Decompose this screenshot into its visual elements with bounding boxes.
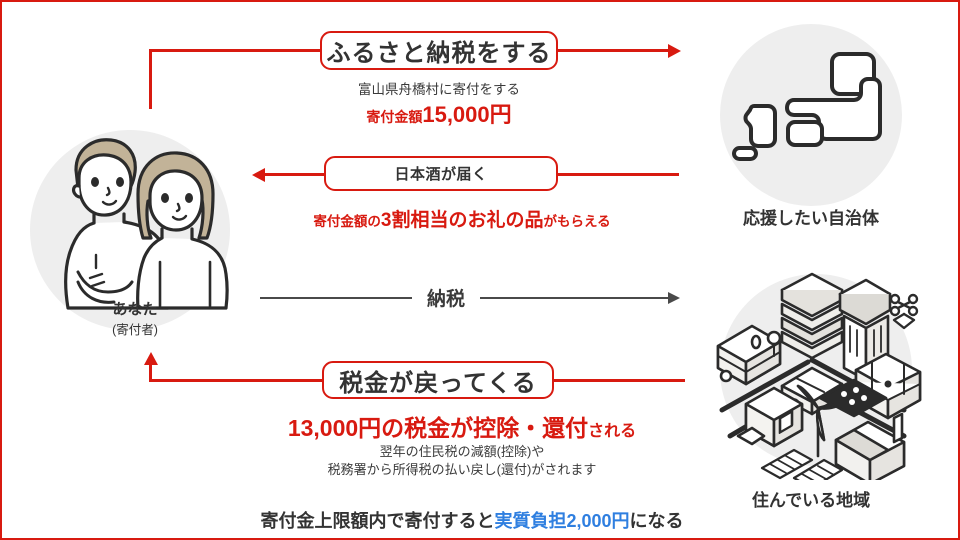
step3-arrow-label: 納税 bbox=[412, 284, 480, 311]
step1-line-vertical bbox=[149, 51, 152, 109]
step4-refund-text: 13,000円の税金が控除・還付される bbox=[262, 409, 662, 443]
step4-note: 翌年の住民税の減額(控除)や 税務署から所得税の払い戻し(還付)がされます bbox=[262, 443, 662, 478]
isometric-city-icon bbox=[708, 260, 924, 480]
step1-line-right bbox=[555, 49, 670, 52]
municipality-label: 応援したい自治体 bbox=[711, 204, 911, 229]
couple-illustration bbox=[32, 122, 242, 322]
step2-line-right bbox=[555, 173, 679, 176]
step4-refund-amount: 13,000円の税金が控除・還付 bbox=[288, 415, 588, 441]
step1-amount-value: 15,000円 bbox=[422, 102, 511, 127]
step4-box-label: 税金が戻ってくる bbox=[339, 363, 537, 398]
japan-map-icon bbox=[730, 40, 900, 190]
step4-note-line1: 翌年の住民税の減額(控除)や bbox=[262, 443, 662, 461]
step1-amount: 寄付金額15,000円 bbox=[289, 97, 589, 129]
step4-note-line2: 税務署から所得税の払い戻し(還付)がされます bbox=[262, 461, 662, 479]
step1-line-left bbox=[149, 49, 324, 52]
step2-box[interactable]: 日本酒が届く bbox=[324, 156, 558, 191]
summary-suffix: になる bbox=[630, 511, 684, 531]
step2-box-label: 日本酒が届く bbox=[394, 163, 487, 184]
infographic-canvas: あなた (寄付者) 応援したい自治体 bbox=[0, 0, 960, 540]
step1-box-label: ふるさと納税をする bbox=[327, 33, 552, 68]
step2-reward-text: 寄付金額の3割相当のお礼の品がもらえる bbox=[282, 205, 642, 232]
step2-reward-prefix: 寄付金額の bbox=[313, 214, 381, 229]
step3-arrowhead bbox=[668, 292, 680, 304]
step2-line-left bbox=[265, 173, 327, 176]
summary-highlight: 実質負担2,000円 bbox=[494, 511, 629, 531]
step4-line-vertical bbox=[149, 364, 152, 381]
summary-prefix: 寄付金上限額内で寄付すると bbox=[260, 511, 494, 531]
step3-line-right bbox=[480, 297, 670, 299]
step2-reward-mid: 3割相当のお礼の品 bbox=[381, 210, 544, 231]
step2-reward-suffix: がもらえる bbox=[543, 214, 610, 229]
person-label-sub: (寄付者) bbox=[90, 319, 180, 338]
person-label-main: あなた bbox=[90, 298, 180, 319]
step2-arrowhead bbox=[252, 168, 265, 182]
step1-box[interactable]: ふるさと納税をする bbox=[320, 31, 558, 70]
step4-line-left bbox=[149, 379, 325, 382]
person-label: あなた (寄付者) bbox=[90, 298, 180, 338]
step4-arrowhead bbox=[144, 352, 158, 365]
step1-arrowhead bbox=[668, 44, 681, 58]
step1-sublabel: 富山県舟橋村に寄付をする bbox=[289, 78, 589, 98]
step4-box[interactable]: 税金が戻ってくる bbox=[322, 361, 554, 399]
step4-line-right bbox=[553, 379, 685, 382]
bottom-summary: 寄付金上限額内で寄付すると実質負担2,000円になる bbox=[182, 507, 762, 533]
step4-refund-suffix: される bbox=[588, 423, 636, 440]
step1-amount-prefix: 寄付金額 bbox=[366, 109, 422, 125]
step3-line-left bbox=[260, 297, 412, 299]
